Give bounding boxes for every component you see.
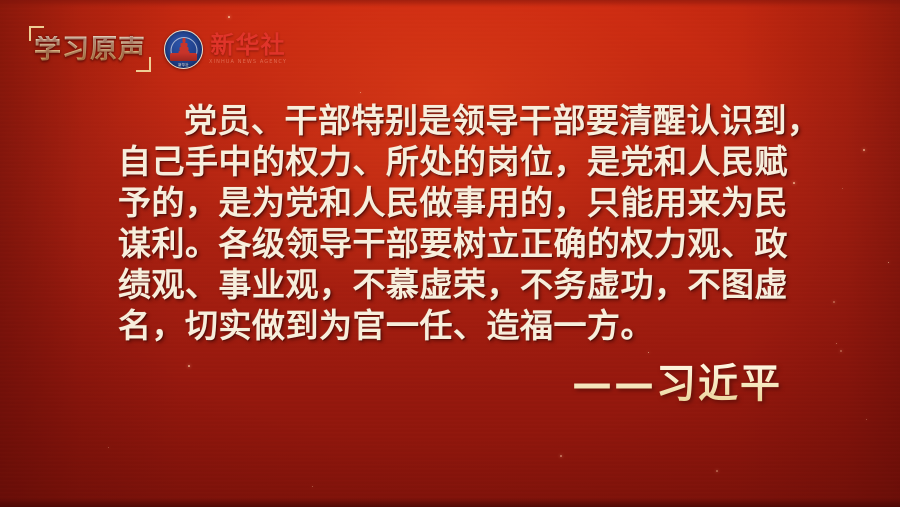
- agency-name-label: 新华社: [211, 33, 286, 57]
- agency-subtitle-label: XINHUA NEWS AGENCY: [209, 60, 287, 65]
- xinhua-emblem-ring-label: 新华社: [165, 64, 202, 67]
- quote-card-canvas: 学习原声 新华社 新华社 XINHUA NEWS AGENCY 党员、干部特: [0, 0, 900, 507]
- quote-line: 名，切实做到为官一任、造福一方。: [118, 305, 782, 346]
- quote-line: 谋利。各级领导干部要树立正确的权力观、政: [118, 223, 782, 264]
- xinhua-emblem-icon: 新华社: [164, 30, 203, 69]
- bracket-corner-bottom-right-icon: [136, 57, 151, 72]
- header-logo-bar: 学习原声 新华社 新华社 XINHUA NEWS AGENCY: [30, 28, 287, 70]
- quote-line: 自己手中的权力、所处的岗位，是党和人民赋: [118, 141, 782, 182]
- quote-attribution: ——习近平: [0, 362, 782, 406]
- agency-logo-xinhua: 新华社 新华社 XINHUA NEWS AGENCY: [164, 29, 287, 69]
- program-logo-label: 学习原声: [34, 36, 146, 63]
- xinhua-emblem-base-icon: [170, 53, 197, 61]
- quote-text-block: 党员、干部特别是领导干部要清醒认识到，自己手中的权力、所处的岗位，是党和人民赋予…: [118, 100, 782, 346]
- xinhua-emblem-inner: 新华社: [165, 31, 202, 68]
- quote-line: 予的，是为党和人民做事用的，只能用来为民: [118, 182, 782, 223]
- quote-attribution-label: ——习近平: [572, 361, 782, 407]
- quote-line: 绩观、事业观，不慕虚荣，不务虚功，不图虚: [118, 264, 782, 305]
- quote-line: 党员、干部特别是领导干部要清醒认识到，: [118, 100, 782, 141]
- program-logo-xuexi-yuansheng: 学习原声: [30, 28, 150, 70]
- agency-logo-text-column: 新华社 XINHUA NEWS AGENCY: [209, 33, 287, 65]
- background-bottom-band: [0, 498, 900, 507]
- background-top-band: [0, 0, 900, 7]
